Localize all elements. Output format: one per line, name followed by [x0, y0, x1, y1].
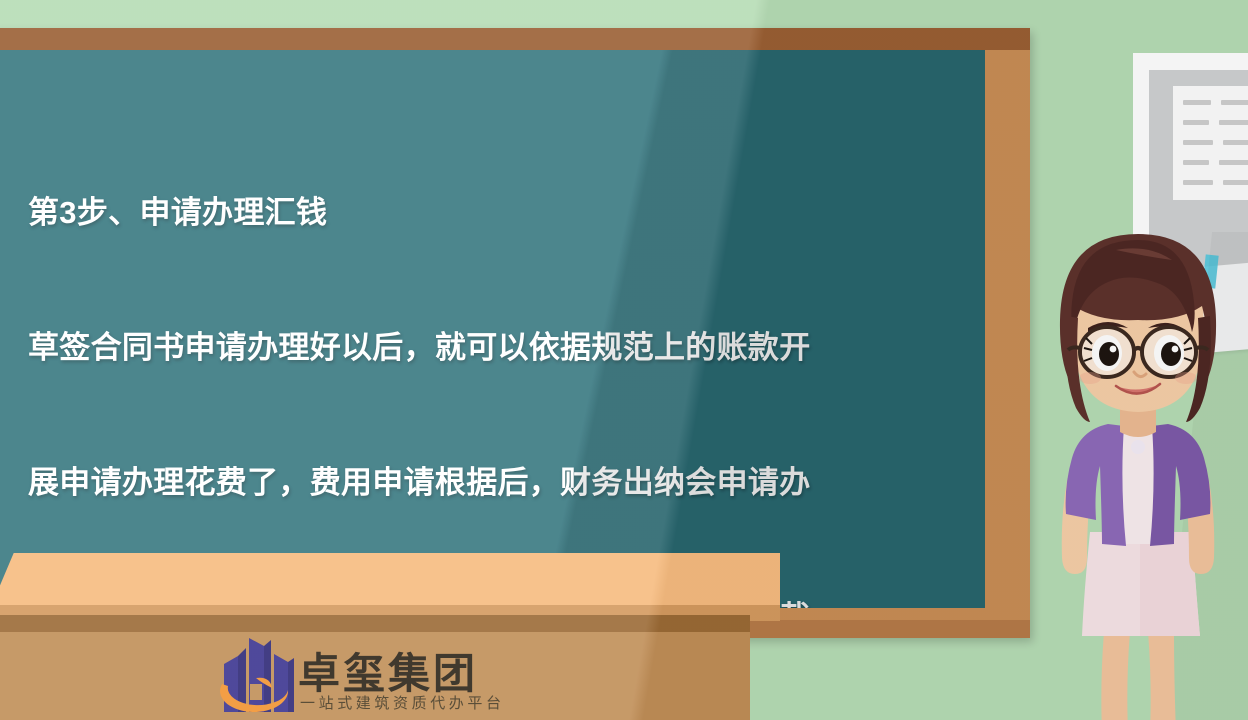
blackboard-text-block: 第3步、申请办理汇钱 草签合同书申请办理好以后，就可以依据规范上的账款开 展申请…	[28, 100, 969, 608]
blackboard-surface: 第3步、申请办理汇钱 草签合同书申请办理好以后，就可以依据规范上的账款开 展申请…	[0, 50, 985, 608]
desk-top-surface	[0, 553, 780, 609]
blackboard-line-2: 草签合同书申请办理好以后，就可以依据规范上的账款开	[28, 325, 969, 370]
brand-logo: 卓玺集团 一站式建筑资质代办平台	[216, 632, 478, 716]
desk-rail	[0, 615, 750, 632]
slide-canvas: 第3步、申请办理汇钱 草签合同书申请办理好以后，就可以依据规范上的账款开 展申请…	[0, 0, 1248, 720]
wall-poster-paper	[1173, 86, 1248, 200]
blackboard-line-3: 展申请办理花费了，费用申请根据后，财务出纳会申请办	[28, 460, 969, 505]
teacher-character	[1012, 232, 1248, 720]
blackboard-line-step3: 第3步、申请办理汇钱	[28, 190, 969, 235]
blackboard-frame: 第3步、申请办理汇钱 草签合同书申请办理好以后，就可以依据规范上的账款开 展申请…	[0, 28, 1030, 638]
brand-tagline: 一站式建筑资质代办平台	[300, 692, 505, 713]
blackboard-frame-top	[0, 28, 1030, 50]
building-logo-icon	[216, 634, 302, 712]
